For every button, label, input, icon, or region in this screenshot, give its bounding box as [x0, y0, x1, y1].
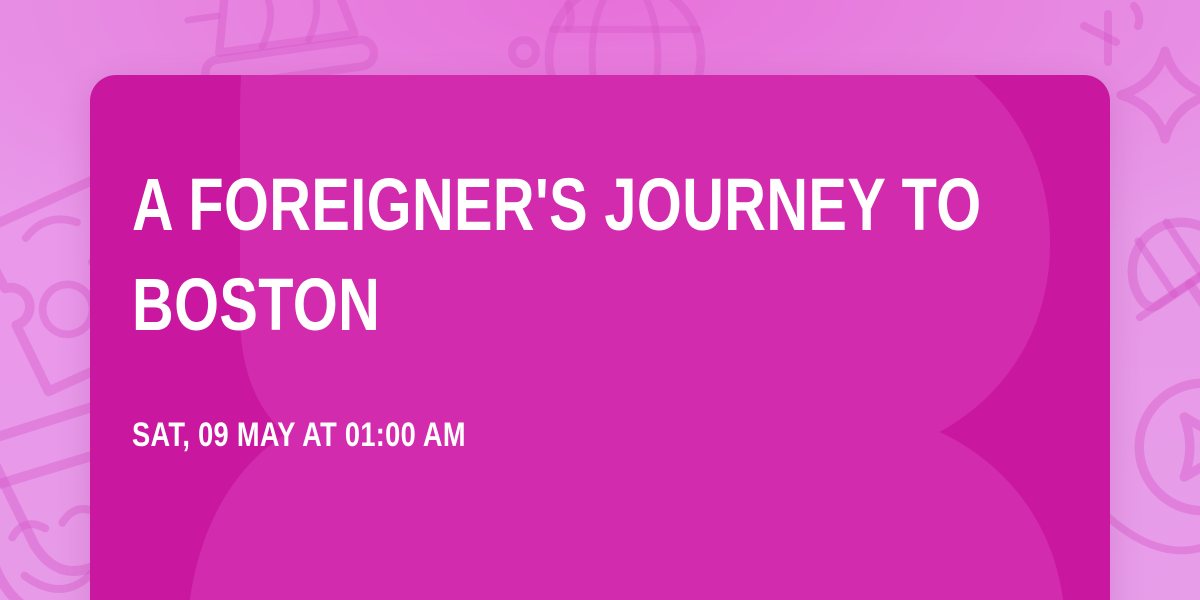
balloon-icon — [1100, 472, 1200, 600]
event-date: Sat, 09 May at 01:00 AM — [132, 415, 1066, 455]
event-card[interactable]: A Foreigner's Journey to Boston Sat, 09 … — [90, 75, 1110, 600]
event-card-body: A Foreigner's Journey to Boston Sat, 09 … — [90, 75, 1110, 455]
microphone-icon — [1120, 200, 1200, 380]
confetti-tick-icon — [1068, 6, 1148, 76]
event-card-canvas: A Foreigner's Journey to Boston Sat, 09 … — [0, 0, 1200, 600]
event-title: A Foreigner's Journey to Boston — [132, 155, 1052, 355]
